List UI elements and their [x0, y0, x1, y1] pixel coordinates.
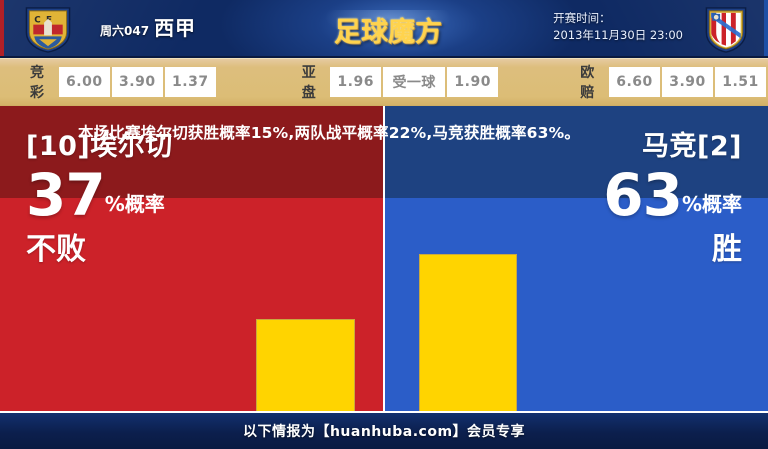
kickoff-label: 开赛时间：	[553, 10, 683, 27]
brand-logo-text: 足球魔方	[334, 10, 442, 49]
home-probability-row: 37 %概率	[26, 166, 173, 224]
away-probability-value: 63	[603, 166, 682, 224]
home-team-name: [10]埃尔切	[26, 130, 173, 164]
svg-text:C: C	[34, 16, 40, 26]
home-probability-unit: %概率	[105, 191, 165, 224]
card-footer: 以下情报为【huanhuba.com】会员专享	[0, 411, 768, 449]
home-result-label: 不败	[26, 230, 173, 270]
odds-cell-home[interactable]: 6.00	[59, 67, 110, 97]
home-team-block: [10]埃尔切 37 %概率 不败	[26, 130, 173, 270]
footer-notice: 以下情报为【huanhuba.com】会员专享	[243, 421, 525, 441]
brand-logo[interactable]: 足球魔方	[325, 10, 451, 48]
away-probability-bar	[419, 254, 517, 411]
away-probability-row: 63 %概率	[603, 166, 742, 224]
home-team-panel: [10]埃尔切 37 %概率 不败	[0, 106, 384, 411]
match-prediction-card: C F 周六047 西甲 足球魔方 开赛时间： 2013年11月30日 23:0…	[0, 0, 768, 449]
odds-cell-away[interactable]: 1.90	[447, 67, 498, 97]
away-result-label: 胜	[603, 230, 742, 270]
match-league-label: 西甲	[154, 12, 196, 41]
odds-group-label: 竞彩	[30, 62, 53, 102]
odds-group-yapan: 亚盘 1.96 受一球 1.90	[302, 67, 500, 97]
odds-cell-draw[interactable]: 3.90	[112, 67, 163, 97]
kickoff-time: 开赛时间： 2013年11月30日 23:00	[553, 10, 683, 44]
elche-cf-crest-icon: C F	[22, 5, 74, 54]
odds-cell-away[interactable]: 1.51	[715, 67, 766, 97]
home-probability-bar	[256, 319, 355, 411]
odds-cell-draw[interactable]: 3.90	[662, 67, 713, 97]
atletico-madrid-crest-icon	[702, 5, 750, 54]
odds-cell-handicap[interactable]: 受一球	[383, 67, 445, 97]
odds-group-jingcai: 竞彩 6.00 3.90 1.37	[30, 67, 218, 97]
odds-cell-away[interactable]: 1.37	[165, 67, 216, 97]
odds-group-oupei: 欧赔 6.60 3.90 1.51	[580, 67, 768, 97]
header-left-edge-accent	[0, 0, 4, 58]
away-probability-unit: %概率	[682, 191, 742, 224]
odds-cell-home[interactable]: 6.60	[609, 67, 660, 97]
panel-divider	[383, 106, 385, 411]
card-header: C F 周六047 西甲 足球魔方 开赛时间： 2013年11月30日 23:0…	[0, 0, 768, 58]
match-round-label: 周六047	[100, 22, 149, 39]
kickoff-value: 2013年11月30日 23:00	[553, 27, 683, 44]
odds-group-label: 欧赔	[580, 62, 603, 102]
away-team-name: 马竞[2]	[603, 130, 742, 164]
header-right-edge-accent	[764, 0, 768, 58]
match-info: 周六047 西甲	[100, 12, 196, 46]
home-probability-value: 37	[26, 166, 105, 224]
odds-cell-home[interactable]: 1.96	[330, 67, 381, 97]
away-team-block: 马竞[2] 63 %概率 胜	[603, 130, 742, 270]
away-team-panel: 马竞[2] 63 %概率 胜	[384, 106, 768, 411]
odds-group-label: 亚盘	[302, 62, 324, 102]
odds-bar: 竞彩 6.00 3.90 1.37 亚盘 1.96 受一球 1.90 欧赔 6.…	[0, 58, 768, 106]
